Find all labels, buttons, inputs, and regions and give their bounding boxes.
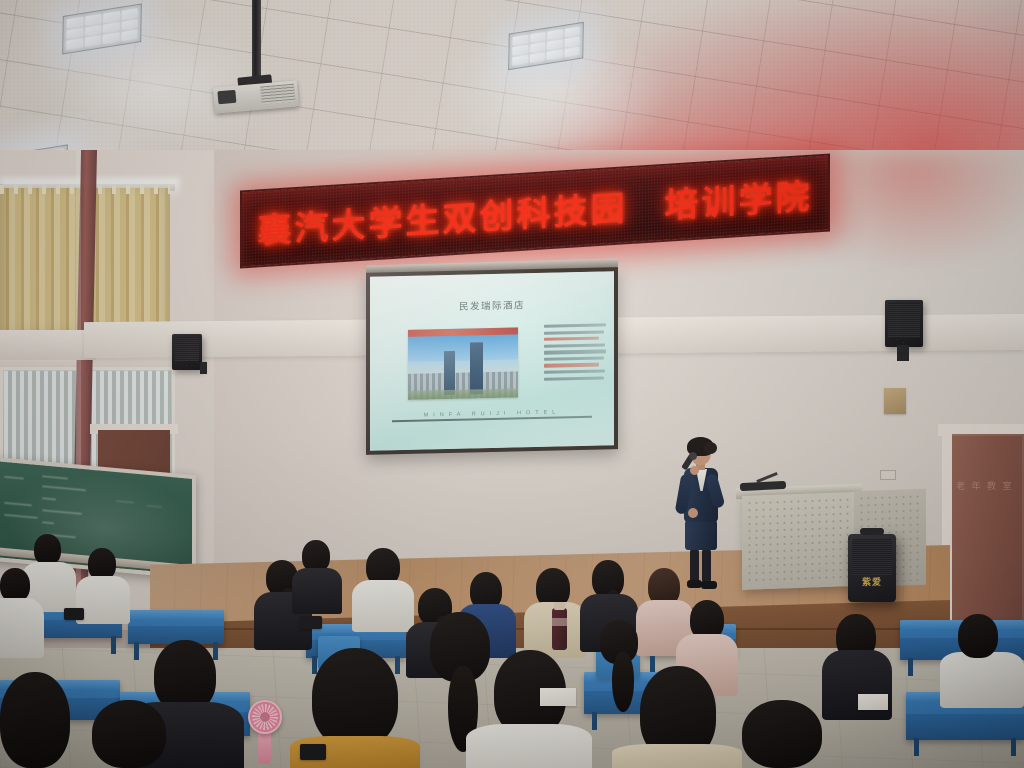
audience-body (466, 724, 592, 768)
slide-text-line (544, 356, 604, 361)
audience-head (34, 534, 61, 565)
slide-photo-tower-right (470, 342, 483, 394)
notebook (540, 688, 576, 706)
projector-vent (260, 84, 295, 105)
audience-head-foreground (92, 700, 166, 768)
wall-speaker-right: · (885, 300, 923, 347)
desk (128, 610, 224, 644)
slide-text-line-highlight (544, 363, 599, 367)
presenter-hand-holding-mic (690, 466, 699, 475)
pa-speaker: 紫爱 (848, 534, 896, 602)
speaker-grille (175, 337, 199, 361)
wall-outlet (880, 470, 896, 480)
presenter-skirt (685, 520, 717, 550)
slide-text-line (544, 343, 605, 348)
handheld-fan (248, 700, 282, 734)
slide-body-text (544, 323, 606, 384)
audience-head-foreground (0, 672, 70, 768)
audience-body (940, 652, 1024, 708)
slide-text-line-highlight (544, 337, 599, 341)
audience-body (352, 580, 414, 632)
audience-head (958, 614, 998, 658)
presenter (674, 440, 728, 592)
slide-text-line (544, 369, 605, 374)
audience-ponytail (612, 652, 634, 712)
handheld-fan-handle (258, 730, 271, 764)
audience-body (292, 568, 342, 614)
slide-text-line (544, 350, 606, 355)
pa-speaker-grille (852, 539, 892, 575)
presenter-shoe-left (687, 580, 702, 588)
wall-red-glow (820, 150, 1024, 270)
projector-lens (217, 90, 236, 105)
bottle-cap (554, 602, 565, 610)
slide-photo (408, 327, 518, 399)
wall-speaker-left: · (172, 334, 202, 370)
right-door[interactable]: 老 年 教 室 (950, 434, 1024, 630)
presenter-hand-lower (688, 508, 698, 518)
wall-speaker-left-bracket (200, 362, 207, 374)
water-bottle (552, 608, 567, 650)
right-door-sign: 老 年 教 室 (956, 480, 1016, 492)
presentation-slide: 民发瑞际酒店 MINFA RUIJI HOTEL (370, 271, 614, 451)
lecture-hall-photo: · · 老 年 教 室 襄汽大学生双创科技园 培训学院 民发瑞际酒店 (0, 0, 1024, 768)
fan-hub (260, 712, 270, 722)
presenter-hair-bun (704, 442, 717, 454)
wall-speaker-right-bracket (897, 345, 909, 361)
wall-wood-panel (884, 388, 906, 414)
projection-screen: 民发瑞际酒店 MINFA RUIJI HOTEL (366, 267, 618, 455)
slide-text-line (544, 323, 606, 328)
presenter-leg-right (702, 548, 711, 584)
mobile-phone (300, 744, 326, 760)
speaker-grille (888, 303, 920, 338)
slide-photo-tower-left (444, 351, 455, 395)
audience-head (0, 568, 30, 602)
slide-text-line (544, 376, 604, 381)
podium (742, 492, 854, 590)
notebook (858, 694, 888, 710)
pa-speaker-handle (860, 528, 884, 535)
audience-body (0, 598, 44, 658)
presenter-leg-left (690, 548, 699, 584)
audience-body (612, 744, 742, 768)
mobile-phone (64, 608, 84, 620)
wall-soffit-left (0, 330, 96, 360)
bottle-label (552, 618, 567, 626)
presenter-shoe-right (701, 581, 717, 589)
pa-speaker-logo: 紫爱 (848, 575, 896, 588)
audience-head-foreground (312, 648, 398, 748)
audience-body (76, 576, 130, 624)
speaker-brand-label: · (172, 363, 202, 368)
slide-text-line (544, 330, 604, 335)
microphone-head (689, 452, 697, 460)
audience-head-foreground (742, 700, 822, 768)
podium-perforation (746, 496, 850, 586)
mobile-phone (300, 616, 322, 629)
